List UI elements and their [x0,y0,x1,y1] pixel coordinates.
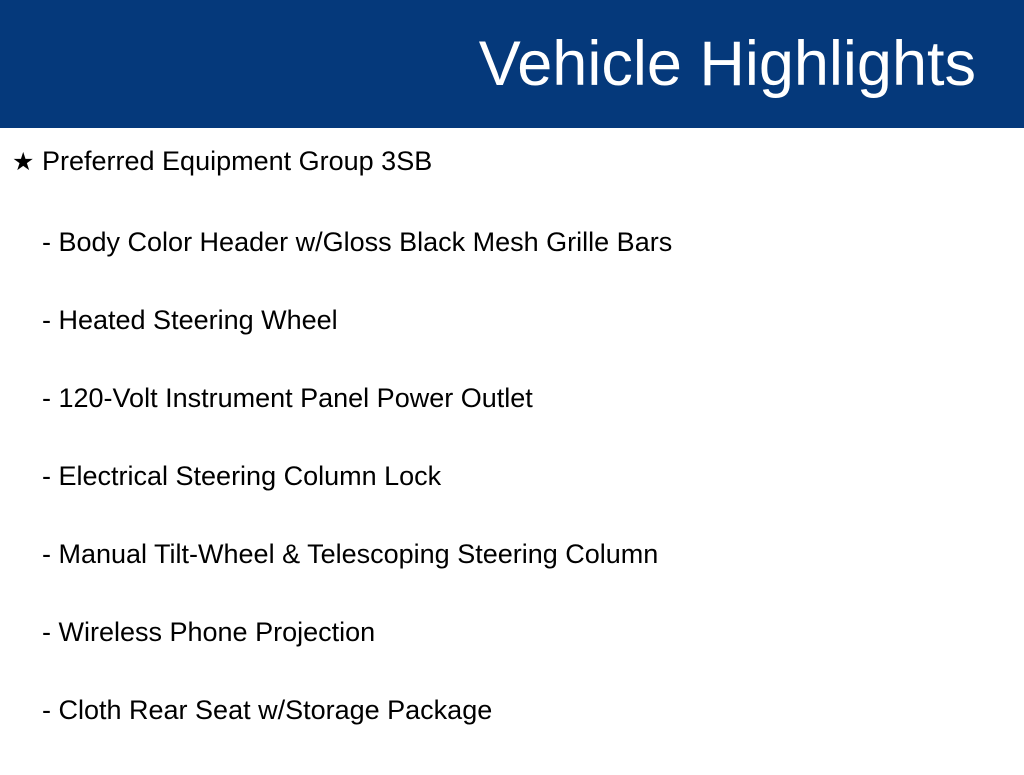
list-item: - 120-Volt Instrument Panel Power Outlet [42,385,672,463]
star-bullet-icon: ★ [12,150,42,175]
list-item-label: - Heated Steering Wheel [42,307,338,334]
list-item: - Manual Tilt-Wheel & Telescoping Steeri… [42,541,672,619]
list-item-label: - Cloth Rear Seat w/Storage Package [42,697,492,724]
list-item-label: - 120-Volt Instrument Panel Power Outlet [42,385,533,412]
sub-bullet-list: - Body Color Header w/Gloss Black Mesh G… [42,229,672,775]
list-item: - Body Color Header w/Gloss Black Mesh G… [42,229,672,307]
list-item: - Cloth Rear Seat w/Storage Package [42,697,672,775]
list-item: - Electrical Steering Column Lock [42,463,672,541]
list-item-label: - Electrical Steering Column Lock [42,463,441,490]
list-item: - Heated Steering Wheel [42,307,672,385]
slide-canvas: Vehicle Highlights ★ Preferred Equipment… [0,0,1024,768]
header-banner: Vehicle Highlights [0,0,1024,128]
list-item-label: - Wireless Phone Projection [42,619,375,646]
list-item-label: - Manual Tilt-Wheel & Telescoping Steeri… [42,541,658,568]
content-area: ★ Preferred Equipment Group 3SB - Body C… [0,128,1024,768]
main-bullet-item: ★ Preferred Equipment Group 3SB [12,148,432,175]
list-item-label: - Body Color Header w/Gloss Black Mesh G… [42,229,672,256]
page-title: Vehicle Highlights [479,31,976,97]
main-bullet-label: Preferred Equipment Group 3SB [42,148,432,175]
list-item: - Wireless Phone Projection [42,619,672,697]
